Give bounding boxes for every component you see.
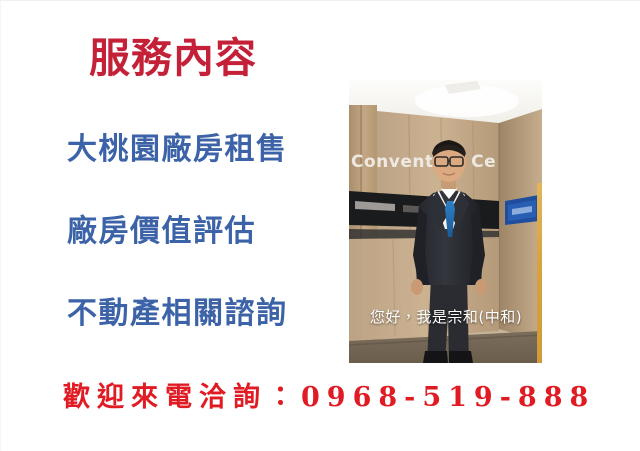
service-item-0: 大桃園廠房租售 [67,132,288,168]
page-title: 服務內容 [89,34,257,82]
service-item-1: 廠房價值評估 [67,214,256,250]
service-item-2: 不動產相關諮詢 [67,296,288,332]
svg-text:Convention Ce: Convention Ce [351,152,496,172]
contact-phone-line: 歡迎來電洽詢：0968-519-888 [63,375,595,414]
photo-caption: 您好，我是宗和(中和) [353,308,539,327]
slide-canvas: 服務內容 大桃園廠房租售 廠房價值評估 不動產相關諮詢 歡迎來電洽詢：0968-… [0,0,640,451]
convention-sign-text: Convention Ce [351,152,496,172]
